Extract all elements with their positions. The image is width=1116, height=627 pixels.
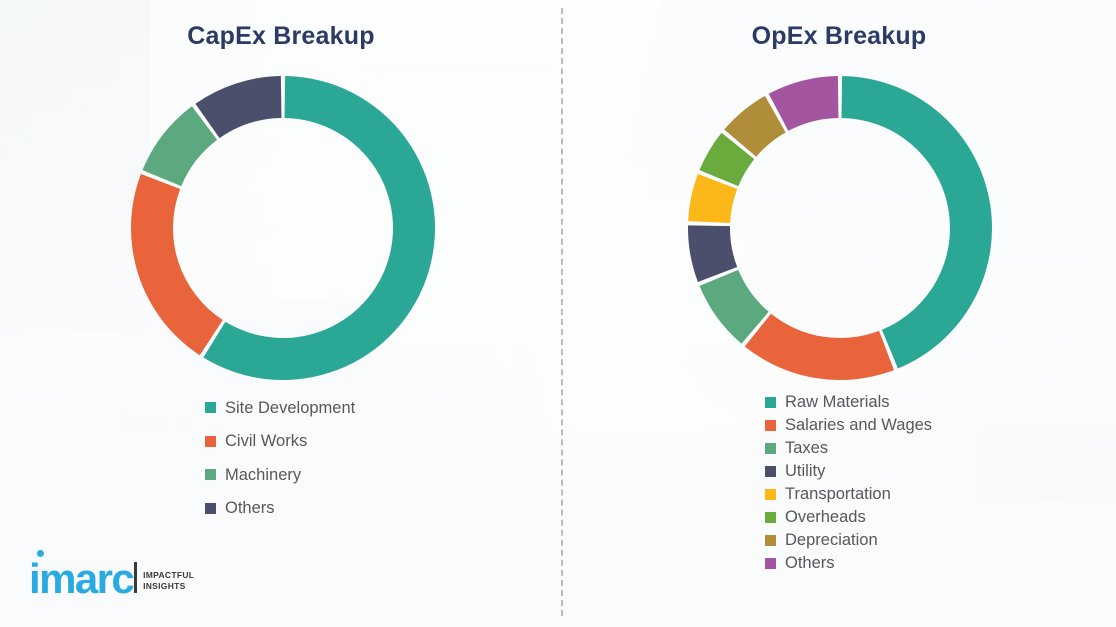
legend-label: Salaries and Wages [785, 417, 932, 434]
legend-item[interactable]: Others [765, 552, 932, 575]
capex-donut-svg [131, 76, 435, 380]
legend-swatch-icon [765, 535, 776, 546]
legend-item[interactable]: Machinery [205, 458, 355, 492]
opex-donut-svg [688, 76, 992, 380]
logo-tagline: IMPACTFUL INSIGHTS [143, 570, 194, 593]
capex-slices [131, 76, 435, 380]
logo-tagline-line2: INSIGHTS [143, 581, 194, 592]
legend-label: Raw Materials [785, 394, 890, 411]
legend-swatch-icon [765, 466, 776, 477]
opex-slices [688, 76, 992, 380]
legend-label: Taxes [785, 440, 828, 457]
logo-wordmark: imarc [29, 562, 133, 596]
legend-label: Site Development [225, 400, 355, 417]
legend-item[interactable]: Raw Materials [765, 391, 932, 414]
legend-label: Depreciation [785, 532, 878, 549]
legend-swatch-icon [205, 402, 216, 413]
donut-slice [131, 174, 223, 355]
legend-swatch-icon [205, 469, 216, 480]
legend-item[interactable]: Utility [765, 460, 932, 483]
capex-chart-title: CapEx Breakup [0, 22, 562, 51]
legend-label: Civil Works [225, 433, 307, 450]
legend-item[interactable]: Depreciation [765, 529, 932, 552]
legend-swatch-icon [765, 397, 776, 408]
legend-swatch-icon [765, 558, 776, 569]
legend-label: Machinery [225, 467, 301, 484]
logo-wordmark-text: imarc [29, 555, 133, 602]
panel-divider [561, 8, 563, 616]
logo-tagline-line1: IMPACTFUL [143, 570, 194, 581]
legend-item[interactable]: Salaries and Wages [765, 414, 932, 437]
legend-swatch-icon [205, 503, 216, 514]
legend-item[interactable]: Site Development [205, 391, 355, 425]
legend-swatch-icon [765, 420, 776, 431]
donut-slice [745, 314, 894, 380]
capex-panel: CapEx Breakup Site DevelopmentCivil Work… [0, 0, 562, 627]
legend-swatch-icon [205, 436, 216, 447]
legend-label: Utility [785, 463, 825, 480]
legend-label: Overheads [785, 509, 866, 526]
logo-divider-bar [134, 562, 137, 593]
opex-chart-title: OpEx Breakup [562, 22, 1116, 51]
opex-panel: OpEx Breakup Raw MaterialsSalaries and W… [562, 0, 1116, 627]
legend-label: Others [225, 500, 275, 517]
legend-swatch-icon [765, 489, 776, 500]
opex-legend: Raw MaterialsSalaries and WagesTaxesUtil… [765, 391, 932, 575]
imarc-logo: imarc IMPACTFUL INSIGHTS [29, 562, 194, 596]
legend-swatch-icon [765, 512, 776, 523]
legend-item[interactable]: Taxes [765, 437, 932, 460]
opex-donut-chart [688, 76, 992, 380]
slide-canvas: CapEx Breakup Site DevelopmentCivil Work… [0, 0, 1116, 627]
capex-legend: Site DevelopmentCivil WorksMachineryOthe… [205, 391, 355, 525]
legend-item[interactable]: Transportation [765, 483, 932, 506]
legend-item[interactable]: Overheads [765, 506, 932, 529]
logo-dot-icon [37, 550, 44, 557]
donut-slice [842, 76, 992, 369]
legend-swatch-icon [765, 443, 776, 454]
legend-label: Transportation [785, 486, 891, 503]
legend-item[interactable]: Others [205, 492, 355, 526]
capex-donut-chart [131, 76, 435, 380]
legend-item[interactable]: Civil Works [205, 425, 355, 459]
legend-label: Others [785, 555, 835, 572]
